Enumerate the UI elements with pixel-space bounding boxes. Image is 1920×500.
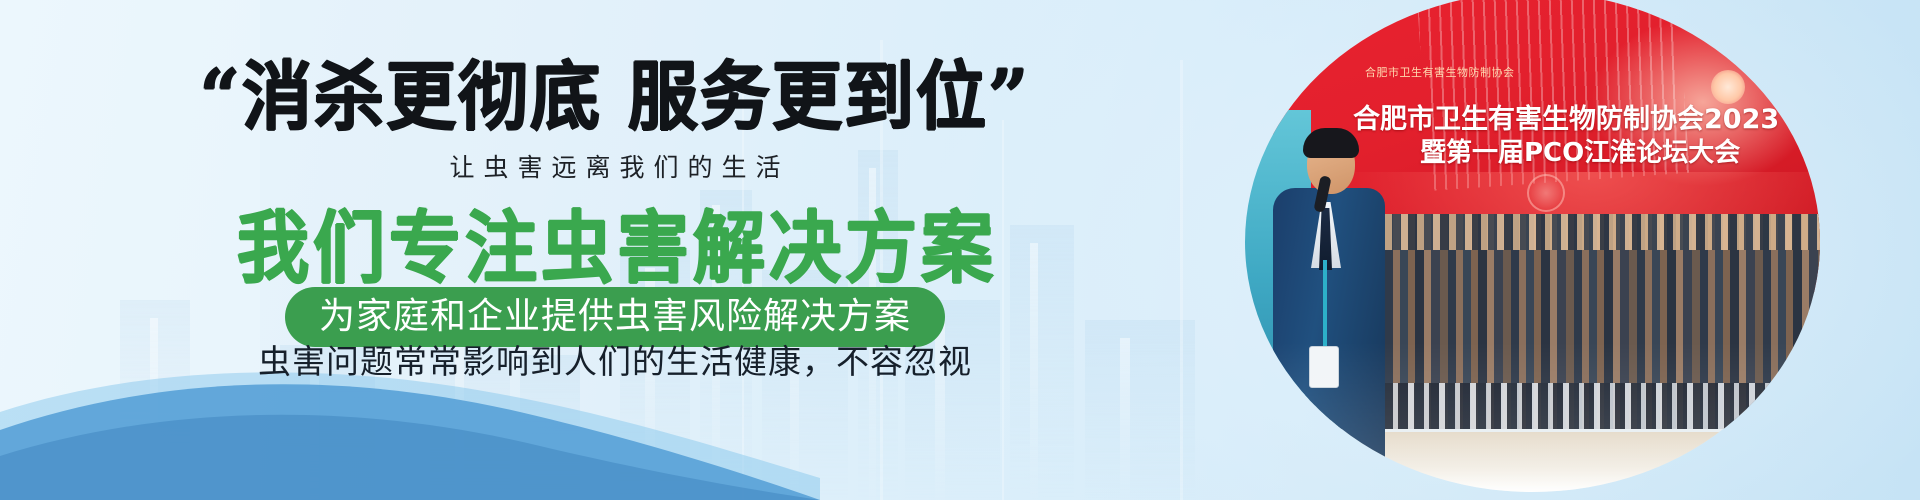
- photo-banner-title-line1: 合肥市卫生有害生物防制协会2023: [1353, 97, 1813, 136]
- photo-association-text: 合肥市卫生有害生物防制协会: [1365, 64, 1535, 80]
- association-emblem-icon: [1527, 174, 1565, 212]
- headline-part-2: 服务更到位: [628, 54, 988, 141]
- banner-pill-wrapper: 为家庭和企业提供虫害风险解决方案: [0, 287, 1230, 347]
- speaker-id-badge: [1309, 346, 1339, 388]
- speaker-figure: [1245, 110, 1395, 492]
- banner-green-headline: 我们专注虫害解决方案: [0, 209, 1230, 287]
- conference-photo-oval: 合肥市卫生有害生物防制协会 合肥市卫生有害生物防制协会2023 暨第一届PCO江…: [1245, 0, 1820, 492]
- banner-pill-badge: 为家庭和企业提供虫害风险解决方案: [285, 287, 945, 347]
- banner-text-content: “消杀更彻底服务更到位” 让虫害远离我们的生活 我们专注虫害解决方案 为家庭和企…: [0, 0, 1230, 500]
- banner-headline: “消杀更彻底服务更到位”: [0, 60, 1230, 134]
- quote-close-mark: ”: [988, 52, 1030, 140]
- photo-inner: 合肥市卫生有害生物防制协会 合肥市卫生有害生物防制协会2023 暨第一届PCO江…: [1245, 0, 1820, 492]
- speaker-hair: [1303, 128, 1359, 158]
- speaker-lanyard: [1323, 260, 1327, 350]
- hero-banner: “消杀更彻底服务更到位” 让虫害远离我们的生活 我们专注虫害解决方案 为家庭和企…: [0, 0, 1920, 500]
- banner-bottom-line: 虫害问题常常影响到人们的生活健康，不容忽视: [0, 345, 1230, 378]
- photo-banner-title-line2: 暨第一届PCO江淮论坛大会: [1420, 132, 1820, 169]
- banner-subline: 让虫害远离我们的生活: [0, 156, 1230, 181]
- quote-open-mark: “: [200, 52, 242, 140]
- headline-part-1: 消杀更彻底: [242, 54, 602, 141]
